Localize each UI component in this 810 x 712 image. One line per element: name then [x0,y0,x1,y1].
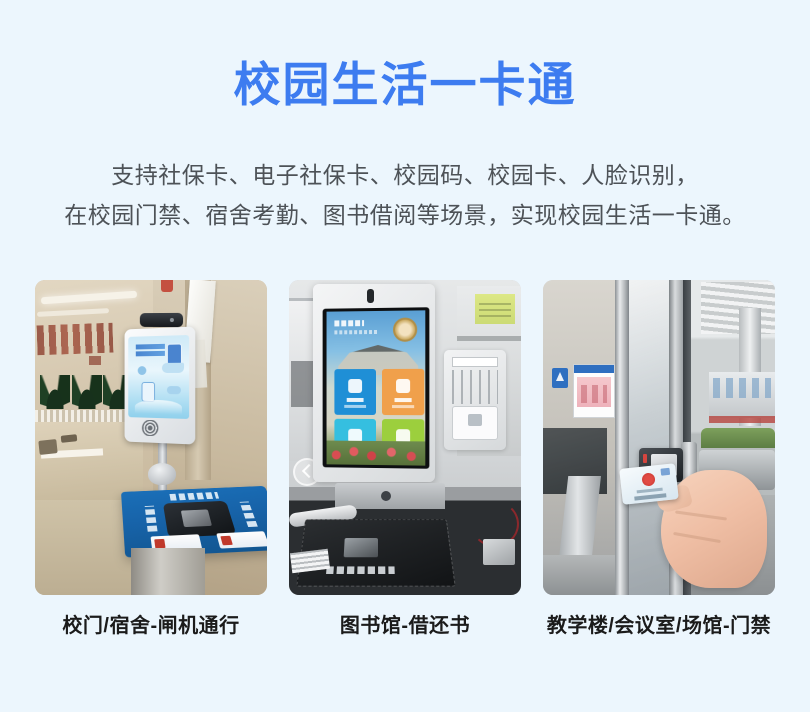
wall-poster [573,364,615,418]
nfc-wave-icon [142,420,181,436]
social-security-card [619,463,678,505]
information-board-notice [452,406,498,440]
kiosk-tile-sublabel [344,405,366,408]
screen-wave-decoration [135,400,182,415]
book-on-pad [344,538,378,557]
side-device [483,539,515,565]
library-self-service-kiosk-photo [289,280,521,595]
campus-gate-turnstile-photo [35,280,267,595]
card-chip-icon [660,468,670,476]
book-icon [348,379,362,393]
direction-sign-icon [552,368,568,388]
finger-crease-2 [673,532,721,543]
card-line-2-text [634,493,666,500]
kiosk-camera-icon [367,289,374,303]
scenario-card-caption: 图书馆-借还书 [289,609,521,638]
wall-calligraphy-seal [89,356,101,365]
ceiling-louvers [701,282,775,334]
information-board-columns [452,370,498,404]
reader-status-led [643,454,647,463]
badge-illustration-icon [138,366,147,375]
kiosk-tile-borrow[interactable] [334,369,376,415]
kiosk-touchscreen[interactable] [323,307,430,469]
poster-body-text [577,377,611,407]
wall-calligraphy-text [36,323,113,356]
turnstile-right-label [240,502,258,528]
rfid-pad-label-text [326,566,395,574]
counter-shadow-1 [38,439,57,455]
hand-illustration-icon [162,363,184,373]
flowerbed-illustration [327,441,426,466]
subtitle-line-1: 支持社保卡、电子社保卡、校园码、校园卡、人脸识别， [0,155,810,195]
scenario-card-list: 校门/宿舍-闸机通行 [35,280,775,638]
red-tag [161,280,173,292]
terminal-pole-base [148,463,176,485]
turnstile-left-label [145,506,158,532]
phone-illustration-icon-2 [142,382,156,402]
kiosk-screen-subtitle-text [334,330,378,334]
turnstile-pedestal [131,548,205,595]
turnstile-top-panel [121,486,267,558]
kiosk-tile-label [395,398,412,402]
wall-information-board [444,350,506,450]
terminal-camera-icon [140,313,183,327]
wall-notice-sign [475,294,515,324]
kiosk-screen-content [327,310,426,465]
information-board-header [452,357,498,367]
turnstile-sticker-2 [216,531,267,548]
screen-headline-text [136,343,165,357]
plant-icon [72,375,102,409]
phone-illustration-icon [167,343,182,365]
scenario-card-gate[interactable]: 校门/宿舍-闸机通行 [35,280,267,638]
kiosk-tile-return[interactable] [382,369,424,415]
terminal-screen [128,335,189,419]
kiosk-tile-label [347,398,364,402]
school-emblem-icon [393,317,417,341]
lobby-plants [37,375,133,415]
national-emblem-icon [641,472,655,486]
kiosk-tile-sublabel [392,405,414,408]
scenario-card-access[interactable]: 教学楼/会议室/场馆-门禁 [543,280,775,638]
kiosk-screen-title-text [334,320,364,326]
page-title: 校园生活一卡通 [0,56,810,114]
scenario-card-caption: 校门/宿舍-闸机通行 [35,609,267,638]
return-box-icon [396,379,410,393]
scenario-card-library[interactable]: 图书馆-借还书 [289,280,521,638]
plant-icon [40,375,70,409]
subtitle-line-2: 在校园门禁、宿舍考勤、图书借阅等场景，实现校园生活一卡通。 [0,195,810,235]
door-access-card-reader-photo [543,280,775,595]
card-line-1-text [637,488,663,494]
door-frame-left [615,280,629,595]
turnstile-title-text [169,492,219,501]
finger-crease-1 [675,510,727,520]
outdoor-red-banner [709,416,775,423]
indoor-area [543,280,619,595]
cloud-illustration-icon [167,386,181,394]
shelf-edge-line [457,336,521,341]
page-subtitle: 支持社保卡、电子社保卡、校园码、校园卡、人脸识别， 在校园门禁、宿舍考勤、图书借… [0,155,810,235]
scenario-card-caption: 教学楼/会议室/场馆-门禁 [543,609,775,638]
outdoor-hedge [701,428,775,448]
outdoor-building [709,372,775,418]
indoor-floor [543,555,619,595]
poster-header [574,365,614,373]
